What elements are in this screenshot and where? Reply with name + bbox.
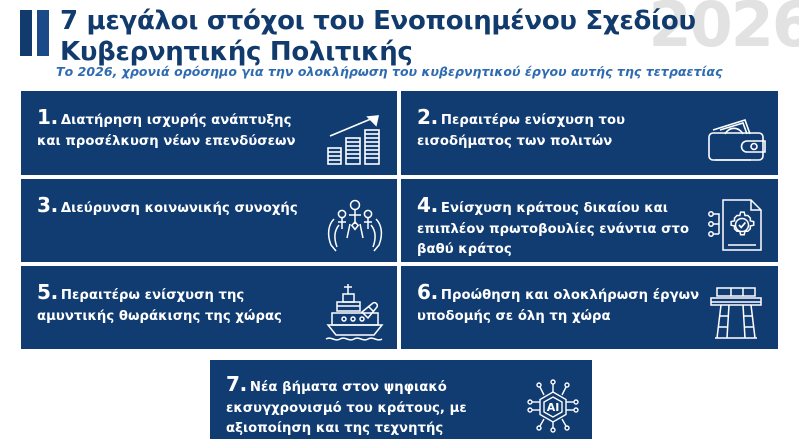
goal-card-7-number: 7.: [226, 372, 247, 396]
goal-card-4-label: Ενίσχυση κράτους δικαίου και επιπλέον πρ…: [417, 201, 689, 257]
page-title: 7 μεγάλοι στόχοι του Ενοποιημένου Σχεδίο…: [60, 6, 700, 67]
goal-card-5[interactable]: 5.Περαιτέρω ενίσχυση της αμυντικής θωράκ…: [21, 266, 397, 349]
growth-chart-icon: [322, 108, 388, 168]
bridge-infrastructure-icon: [703, 282, 769, 342]
goal-card-3[interactable]: 3.Διεύρυνση κοινωνικής συνοχής: [21, 179, 397, 262]
goal-card-2-number: 2.: [417, 105, 438, 129]
logo-bar-left: [20, 10, 32, 56]
navy-ship-icon: [322, 282, 388, 342]
goal-card-6[interactable]: 6.Προώθηση και ολοκλήρωση έργων υποδομής…: [401, 266, 778, 349]
goal-card-2[interactable]: 2.Περαιτέρω ενίσχυση του εισοδήματος των…: [401, 91, 778, 175]
title-block: 7 μεγάλοι στόχοι του Ενοποιημένου Σχεδίο…: [60, 6, 700, 67]
goals-grid: 1.Διατήρηση ισχυρής ανάπτυξης και προσέλ…: [21, 91, 778, 439]
goal-card-1-label: Διατήρηση ισχυρής ανάπτυξης και προσέλκυ…: [37, 113, 296, 149]
goal-card-4-number: 4.: [417, 193, 438, 217]
ai-chip-icon: AI: [522, 376, 584, 434]
svg-text:AI: AI: [547, 401, 560, 414]
goal-card-3-label: Διεύρυνση κοινωνικής συνοχής: [61, 201, 298, 216]
hands-family-heart-icon: [322, 195, 388, 255]
logo-bars-icon: [20, 10, 54, 56]
goal-card-2-text: 2.Περαιτέρω ενίσχυση του εισοδήματος των…: [417, 102, 700, 152]
goal-card-4-text: 4.Ενίσχυση κράτους δικαίου και επιπλέον …: [417, 190, 700, 261]
goal-card-7-label: Νέα βήματα στον ψηφιακό εκσυγχρονισμό το…: [226, 380, 467, 439]
goal-card-5-number: 5.: [37, 280, 58, 304]
goal-card-4[interactable]: 4.Ενίσχυση κράτους δικαίου και επιπλέον …: [401, 179, 778, 262]
wallet-money-icon: [703, 108, 769, 168]
goal-card-5-text: 5.Περαιτέρω ενίσχυση της αμυντικής θωράκ…: [37, 277, 319, 327]
goal-card-5-label: Περαιτέρω ενίσχυση της αμυντικής θωράκισ…: [37, 288, 282, 324]
goal-card-6-label: Προώθηση και ολοκλήρωση έργων υποδομής σ…: [417, 288, 699, 324]
goal-card-2-label: Περαιτέρω ενίσχυση του εισοδήματος των π…: [417, 113, 625, 149]
goal-card-3-text: 3.Διεύρυνση κοινωνικής συνοχής: [37, 190, 319, 220]
goal-card-1[interactable]: 1.Διατήρηση ισχυρής ανάπτυξης και προσέλ…: [21, 91, 397, 175]
goal-card-6-text: 6.Προώθηση και ολοκλήρωση έργων υποδομής…: [417, 277, 700, 327]
goal-card-3-number: 3.: [37, 193, 58, 217]
goal-card-7-text: 7.Νέα βήματα στον ψηφιακό εκσυγχρονισμό …: [226, 369, 518, 439]
page-subtitle: Το 2026, χρονιά ορόσημο για την ολοκλήρω…: [56, 64, 723, 79]
logo-bar-right: [37, 10, 49, 56]
goal-card-1-text: 1.Διατήρηση ισχυρής ανάπτυξης και προσέλ…: [37, 102, 319, 152]
goal-card-7[interactable]: 7.Νέα βήματα στον ψηφιακό εκσυγχρονισμό …: [210, 360, 592, 439]
page-header: 2026 7 μεγάλοι στόχοι του Ενοποιημένου Σ…: [0, 0, 799, 88]
document-gear-check-icon: [703, 195, 769, 255]
goal-card-1-number: 1.: [37, 105, 58, 129]
goal-card-6-number: 6.: [417, 280, 438, 304]
